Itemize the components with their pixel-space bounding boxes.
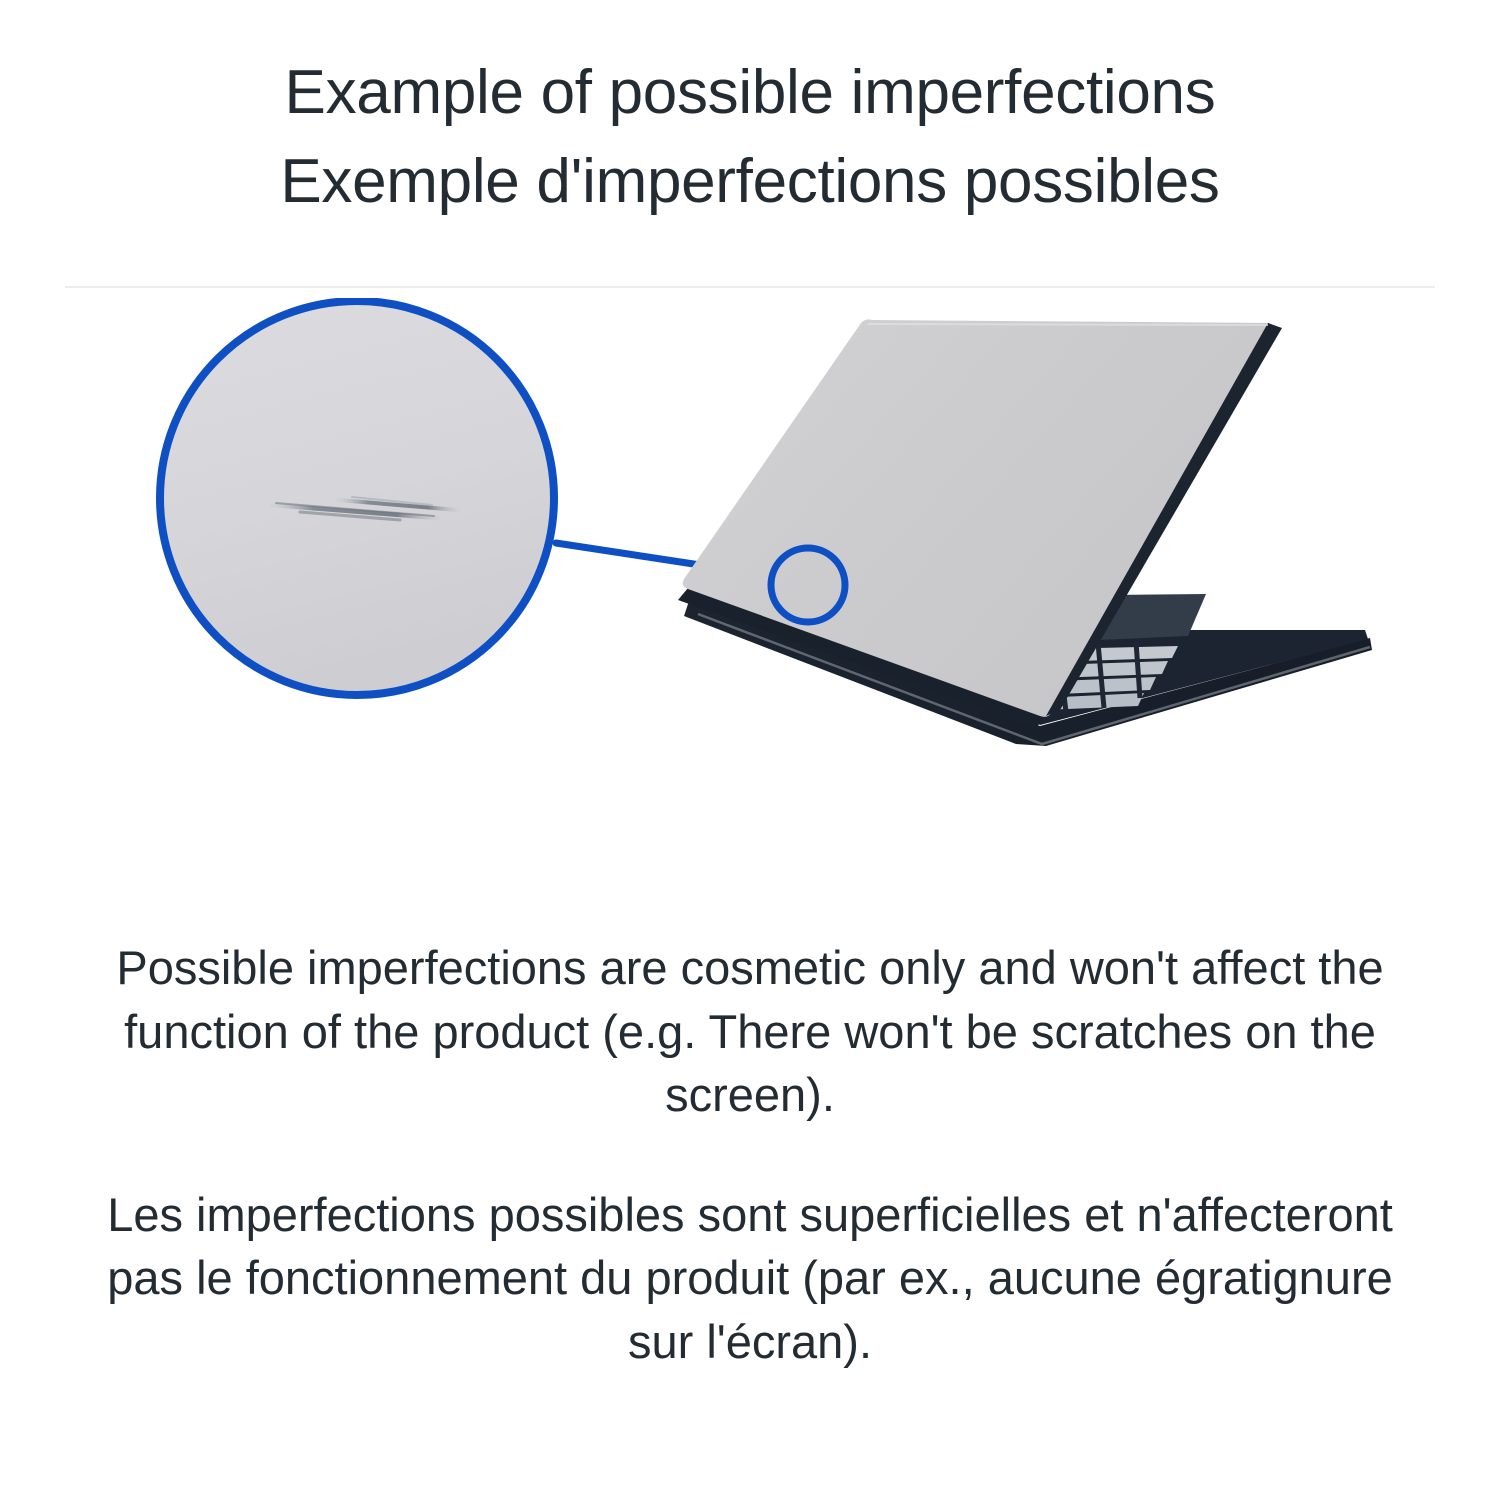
- header: Example of possible imperfections Exempl…: [0, 0, 1500, 218]
- page-title-english: Example of possible imperfections: [0, 56, 1500, 129]
- body-paragraph-english: Possible imperfections are cosmetic only…: [80, 936, 1420, 1126]
- imperfections-info-card: Example of possible imperfections Exempl…: [0, 0, 1500, 1500]
- laptop-lid-top-highlight: [868, 324, 1268, 325]
- body-paragraph-french: Les imperfections possibles sont superfi…: [100, 1183, 1400, 1373]
- illustration: [0, 298, 1500, 918]
- page-title-french: Exemple d'imperfections possibles: [0, 145, 1500, 218]
- imperfection-illustration-svg: [0, 298, 1500, 918]
- laptop-illustration: [678, 320, 1372, 747]
- header-divider: [65, 286, 1435, 288]
- magnifier-detail: [160, 301, 554, 695]
- body-copy: Possible imperfections are cosmetic only…: [60, 936, 1440, 1373]
